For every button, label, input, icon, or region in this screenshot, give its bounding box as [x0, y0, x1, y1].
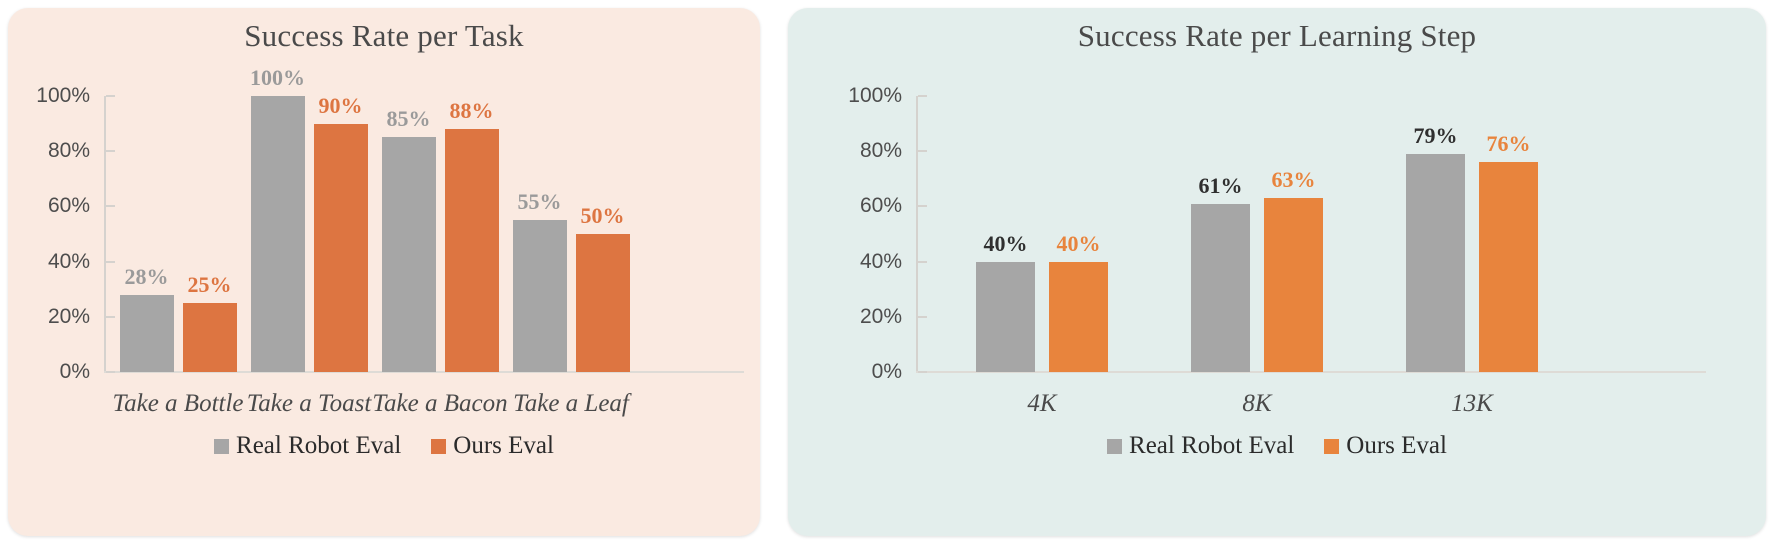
bar-value-label: 55%: [518, 189, 562, 215]
y-axis-tick: [918, 150, 927, 152]
bar-value-label: 25%: [188, 272, 232, 298]
y-axis-tick: [918, 261, 927, 263]
legend-item-label: Real Robot Eval: [236, 432, 401, 460]
legend-item[interactable]: Real Robot Eval: [1107, 432, 1294, 460]
bar-group: 40%40%4K: [935, 96, 1150, 372]
bar-ours-eval[interactable]: 76%: [1479, 162, 1538, 372]
chart-panel-success-rate-per-learning-step: Success Rate per Learning Step 0%20%40%6…: [788, 8, 1766, 536]
bar-ours-eval[interactable]: 25%: [183, 303, 237, 372]
y-axis-tick-label: 20%: [48, 305, 90, 329]
bar-ours-eval[interactable]: 50%: [576, 234, 630, 372]
bar-value-label: 50%: [581, 203, 625, 229]
bar-value-label: 85%: [387, 106, 431, 132]
legend-item-label: Ours Eval: [1346, 432, 1447, 460]
bar-group: 61%63%8K: [1150, 96, 1365, 372]
bar-ours-eval[interactable]: 63%: [1264, 198, 1323, 372]
bar-value-label: 28%: [125, 264, 169, 290]
chart-panel-success-rate-per-task: Success Rate per Task 0%20%40%60%80%100%…: [8, 8, 760, 536]
bar-real-robot-eval[interactable]: 28%: [120, 295, 174, 372]
y-axis-tick-label: 40%: [48, 250, 90, 274]
y-axis-tick: [918, 205, 927, 207]
y-axis-line: [916, 96, 918, 372]
x-axis-category-label: Take a Bottle: [112, 390, 243, 418]
bar-group: 79%76%13K: [1365, 96, 1580, 372]
legend-swatch-ours-eval: [1324, 439, 1339, 454]
bar-value-label: 100%: [250, 65, 305, 91]
bar-group: 100%90%Take a Toast: [244, 96, 375, 372]
y-axis-tick-label: 20%: [860, 305, 902, 329]
x-axis-category-label: Take a Toast: [247, 390, 372, 418]
legend-item[interactable]: Ours Eval: [1324, 432, 1447, 460]
legend-swatch-real-robot-eval: [1107, 439, 1122, 454]
legend-item[interactable]: Ours Eval: [431, 432, 554, 460]
legend-left: Real Robot EvalOurs Eval: [8, 432, 760, 460]
bar-ours-eval[interactable]: 88%: [445, 129, 499, 372]
bar-group: 85%88%Take a Bacon: [375, 96, 506, 372]
legend-swatch-real-robot-eval: [214, 439, 229, 454]
y-axis-tick-label: 60%: [48, 194, 90, 218]
legend-swatch-ours-eval: [431, 439, 446, 454]
x-axis-category-label: Take a Leaf: [513, 390, 629, 418]
x-axis-category-label: 13K: [1451, 390, 1493, 418]
bar-value-label: 90%: [319, 93, 363, 119]
y-axis-tick-label: 80%: [860, 139, 902, 163]
y-axis-tick: [918, 316, 927, 318]
bar-real-robot-eval[interactable]: 40%: [976, 262, 1035, 372]
y-axis-tick-label: 40%: [860, 250, 902, 274]
bar-real-robot-eval[interactable]: 79%: [1406, 154, 1465, 372]
page-title-left: Success Rate per Task: [8, 18, 760, 54]
y-axis-tick-label: 0%: [872, 360, 902, 384]
y-axis-line: [104, 96, 106, 372]
legend-item[interactable]: Real Robot Eval: [214, 432, 401, 460]
bar-real-robot-eval[interactable]: 55%: [513, 220, 567, 372]
y-axis-tick-label: 100%: [848, 84, 902, 108]
x-axis-category-label: 4K: [1027, 390, 1056, 418]
bar-ours-eval[interactable]: 90%: [314, 124, 368, 372]
bar-ours-eval[interactable]: 40%: [1049, 262, 1108, 372]
y-axis-tick-label: 100%: [36, 84, 90, 108]
legend-right: Real Robot EvalOurs Eval: [788, 432, 1766, 460]
x-axis-category-label: Take a Bacon: [372, 390, 507, 418]
bar-value-label: 63%: [1272, 167, 1316, 193]
bar-value-label: 40%: [1057, 231, 1101, 257]
bar-real-robot-eval[interactable]: 61%: [1191, 204, 1250, 372]
legend-item-label: Ours Eval: [453, 432, 554, 460]
x-axis-category-label: 8K: [1242, 390, 1271, 418]
y-axis-tick: [918, 371, 927, 373]
plot-area-left: 0%20%40%60%80%100%28%25%Take a Bottle100…: [104, 96, 744, 372]
bar-group: 28%25%Take a Bottle: [113, 96, 244, 372]
y-axis-tick-label: 60%: [860, 194, 902, 218]
figure-two-bar-charts: Success Rate per Task 0%20%40%60%80%100%…: [0, 0, 1774, 550]
bar-value-label: 76%: [1487, 131, 1531, 157]
bar-group: 55%50%Take a Leaf: [506, 96, 637, 372]
bar-value-label: 88%: [450, 98, 494, 124]
plot-area-right: 0%20%40%60%80%100%40%40%4K61%63%8K79%76%…: [916, 96, 1706, 372]
bar-real-robot-eval[interactable]: 85%: [382, 137, 436, 372]
bar-value-label: 61%: [1199, 173, 1243, 199]
page-title-right: Success Rate per Learning Step: [788, 18, 1766, 54]
bar-value-label: 40%: [984, 231, 1028, 257]
y-axis-tick-label: 80%: [48, 139, 90, 163]
y-axis-tick-label: 0%: [60, 360, 90, 384]
y-axis-tick: [918, 95, 927, 97]
bar-real-robot-eval[interactable]: 100%: [251, 96, 305, 372]
legend-item-label: Real Robot Eval: [1129, 432, 1294, 460]
bar-value-label: 79%: [1414, 123, 1458, 149]
